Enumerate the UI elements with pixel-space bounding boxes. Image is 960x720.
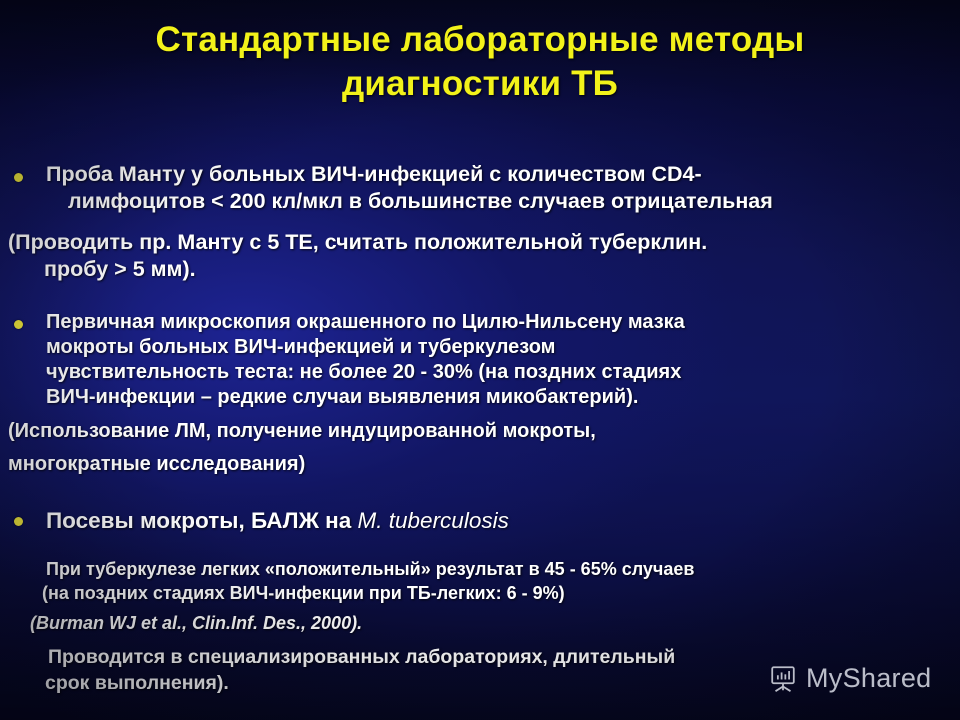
paragraph-microscopy-note-line-1: (Использование ЛМ, получение индуцирован… xyxy=(8,419,938,444)
paragraph-mantoux-line-1: Проба Манту у больных ВИЧ-инфекцией с ко… xyxy=(46,161,946,188)
paragraph-mantoux-note-line-2: пробу > 5 мм). xyxy=(8,256,943,283)
paragraph-culture-citation-line-1: (Burman WJ et al., Clin.Inf. Des., 2000)… xyxy=(30,611,670,635)
bullet-marker-microscopy xyxy=(14,320,23,329)
paragraph-microscopy-line-4: ВИЧ-инфекции – редкие случаи выявления м… xyxy=(46,385,951,410)
slide-title: Стандартные лабораторные методы диагност… xyxy=(0,18,960,106)
presentation-chart-icon xyxy=(768,664,798,694)
paragraph-mantoux-note-line-1: (Проводить пр. Манту с 5 ТЕ, считать пол… xyxy=(8,229,943,256)
paragraph-microscopy-line-2: мокроты больных ВИЧ-инфекцией и туберкул… xyxy=(46,335,951,360)
paragraph-culture-detail-line-2: (на поздних стадиях ВИЧ-инфекции при ТБ-… xyxy=(42,581,951,605)
paragraph-microscopy-note-line-2: многократные исследования) xyxy=(8,452,938,477)
paragraph-microscopy: Первичная микроскопия окрашенного по Цил… xyxy=(46,310,951,410)
paragraph-culture-citation: (Burman WJ et al., Clin.Inf. Des., 2000)… xyxy=(30,611,670,635)
title-line-2: диагностики ТБ xyxy=(0,62,960,106)
culture-heading-species: M. tuberculosis xyxy=(358,508,509,533)
slide-canvas: Стандартные лабораторные методы диагност… xyxy=(0,0,960,720)
bullet-marker-culture xyxy=(14,517,23,526)
paragraph-mantoux-line-2: лимфоцитов < 200 кл/мкл в большинстве сл… xyxy=(46,188,946,215)
paragraph-microscopy-line-1: Первичная микроскопия окрашенного по Цил… xyxy=(46,310,951,335)
paragraph-culture-heading: Посевы мокроты, БАЛЖ на M. tuberculosis xyxy=(46,506,946,535)
paragraph-microscopy-line-3: чувствительность теста: не более 20 - 30… xyxy=(46,360,951,385)
myshared-watermark-text: MyShared xyxy=(806,663,931,694)
culture-heading-lead: Посевы мокроты, БАЛЖ на xyxy=(46,508,358,533)
paragraph-culture-detail: При туберкулезе легких «положительный» р… xyxy=(46,557,951,605)
paragraph-culture-detail-line-1: При туберкулезе легких «положительный» р… xyxy=(46,557,951,581)
paragraph-microscopy-note: (Использование ЛМ, получение индуцирован… xyxy=(8,419,938,477)
paragraph-mantoux: Проба Манту у больных ВИЧ-инфекцией с ко… xyxy=(46,161,946,215)
title-line-1: Стандартные лабораторные методы xyxy=(0,18,960,62)
paragraph-mantoux-note: (Проводить пр. Манту с 5 ТЕ, считать пол… xyxy=(8,229,943,283)
bullet-marker-mantoux xyxy=(14,173,23,182)
myshared-watermark: MyShared xyxy=(768,663,931,694)
